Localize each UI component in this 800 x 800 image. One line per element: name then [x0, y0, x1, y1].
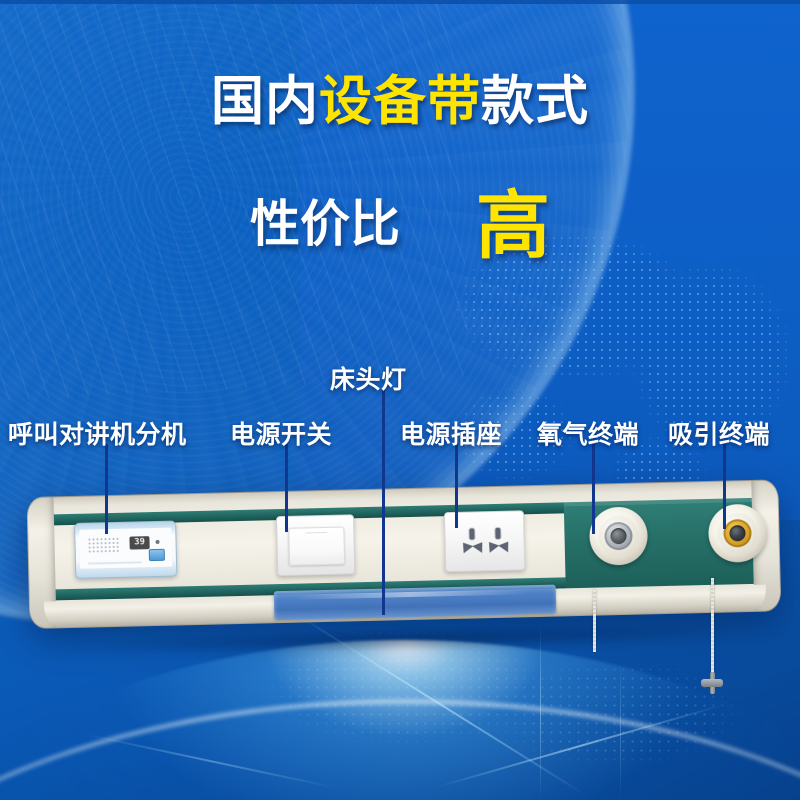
- callout-label-intercom: 呼叫对讲机分机: [8, 415, 187, 451]
- callout-label-suction-terminal: 吸引终端: [668, 415, 770, 451]
- callout-label-bed-lamp: 床头灯: [330, 360, 407, 396]
- subheadline-yellow: 高: [476, 183, 550, 269]
- socket-pin-left-icon: [458, 539, 473, 553]
- headline-part-yellow: 设备带: [319, 71, 481, 132]
- callout-label-power-switch: 电源开关: [230, 415, 332, 451]
- leader-line-oxygen-terminal: [592, 444, 595, 534]
- headline-line-2: 性价比高: [0, 166, 800, 273]
- cord-pull-connector[interactable]: [701, 672, 723, 694]
- suction-hose-cord: [711, 578, 714, 673]
- headline-part-white-b: 款式: [481, 71, 589, 132]
- headline-part-white-a: 国内: [211, 71, 319, 132]
- panel-body: 39: [26, 479, 781, 629]
- callout-label-power-socket: 电源插座: [400, 415, 502, 451]
- leader-line-bed-lamp: [382, 389, 385, 615]
- rocker-switch[interactable]: [288, 527, 345, 566]
- leader-line-power-socket: [455, 444, 458, 528]
- leader-line-intercom: [105, 444, 108, 534]
- headline-block: 国内设备带款式 性价比高: [0, 74, 800, 130]
- promo-image: 国内设备带款式 性价比高 呼叫对讲机分机 电源开关 床头灯 电源插座 氧气终端 …: [0, 0, 800, 800]
- medical-bed-head-panel: 39: [26, 479, 781, 629]
- intercom-faceplate: 39: [79, 528, 172, 569]
- nurse-call-intercom-unit[interactable]: 39: [74, 521, 177, 579]
- socket-outlet-left[interactable]: [459, 528, 486, 555]
- leader-line-power-switch: [285, 444, 288, 532]
- top-edge-bar: [0, 0, 800, 4]
- headline-line-1: 国内设备带款式: [0, 74, 800, 130]
- socket-pin-left-icon: [484, 538, 499, 552]
- cord-pull-wing: [701, 679, 723, 687]
- status-led-icon: [155, 540, 159, 544]
- speaker-grille-icon: [87, 537, 119, 554]
- intercom-display: 39: [129, 536, 149, 549]
- socket-pin-top-icon: [469, 528, 474, 539]
- vertical-light-line: [620, 660, 621, 800]
- subheadline-white: 性价比: [250, 195, 400, 253]
- oxygen-hose-cord: [593, 590, 596, 652]
- socket-pin-right-icon: [498, 538, 513, 552]
- socket-outlet-right[interactable]: [485, 528, 512, 555]
- leader-line-suction-terminal: [723, 444, 726, 529]
- callout-label-oxygen-terminal: 氧气终端: [537, 415, 639, 451]
- intercom-call-button[interactable]: [149, 549, 165, 561]
- socket-pin-top-icon: [495, 528, 500, 539]
- intercom-seam-line: [88, 561, 142, 564]
